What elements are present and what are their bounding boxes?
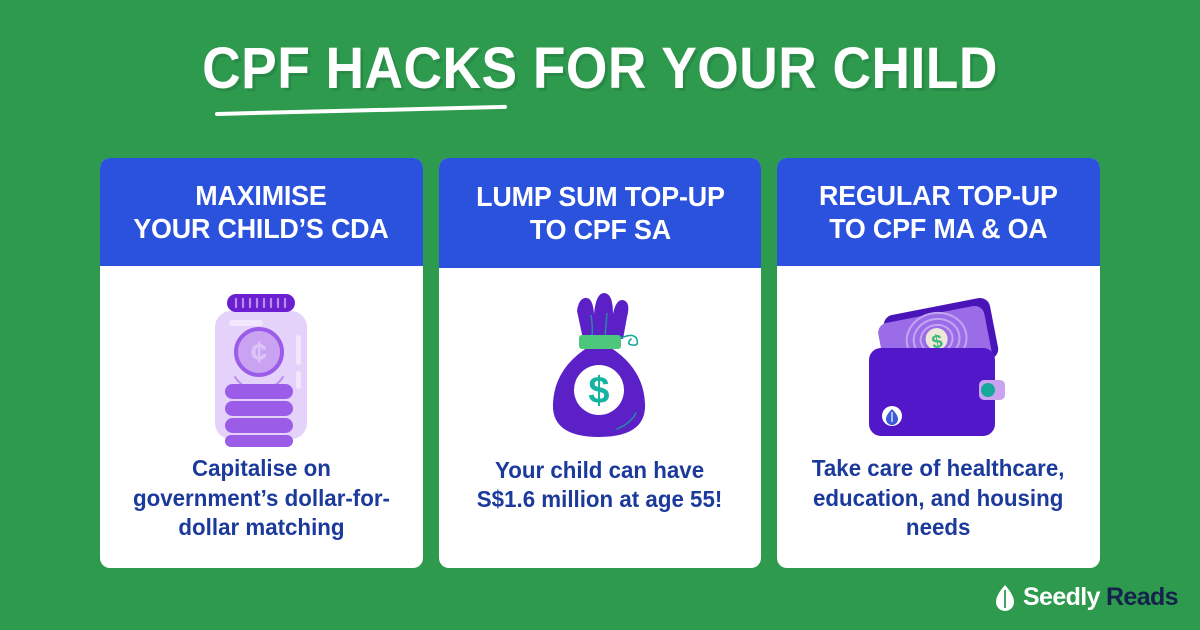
card-body-text-1: Capitalise on government’s dollar-for- d… [133, 454, 390, 542]
card-header-2: LUMP SUM TOP-UP TO CPF SA [439, 158, 762, 268]
card-maximise-cda[interactable]: MAXIMISE YOUR CHILD’S CDA [100, 158, 423, 568]
card-header-1: MAXIMISE YOUR CHILD’S CDA [100, 158, 423, 266]
svg-text:¢: ¢ [251, 336, 268, 369]
card-body-1: ¢ Capitalise on government’s dollar-for-… [100, 266, 423, 568]
cards-container: MAXIMISE YOUR CHILD’S CDA [100, 158, 1100, 568]
icon-wrap-2: $ [535, 286, 665, 456]
card-header-text-3: REGULAR TOP-UP TO CPF MA & OA [819, 179, 1058, 245]
seedly-leaf-icon [993, 584, 1017, 612]
card-body-text-2: Your child can have S$1.6 million at age… [477, 456, 723, 514]
title-underline-decoration [215, 105, 507, 116]
seedly-reads-logo[interactable]: Seedly Reads [993, 583, 1178, 612]
icon-wrap-1: ¢ [201, 284, 321, 454]
svg-text:$: $ [588, 370, 609, 412]
title-block: CPF HACKS FOR YOUR CHILD [0, 40, 1200, 98]
card-header-3: REGULAR TOP-UP TO CPF MA & OA [777, 158, 1100, 266]
card-regular-topup[interactable]: REGULAR TOP-UP TO CPF MA & OA $ [777, 158, 1100, 568]
card-body-2: $ Your child can have S$1.6 million at a… [439, 268, 762, 568]
logo-word-reads: Reads [1106, 583, 1178, 612]
card-body-text-3: Take care of healthcare, education, and … [812, 454, 1065, 542]
card-header-text-2: LUMP SUM TOP-UP TO CPF SA [476, 180, 725, 246]
card-lump-sum-topup[interactable]: LUMP SUM TOP-UP TO CPF SA [439, 158, 762, 568]
card-body-3: $ Take care of healthcare, education, an… [777, 266, 1100, 568]
page-title: CPF HACKS FOR YOUR CHILD [48, 40, 1152, 98]
icon-wrap-3: $ [859, 284, 1019, 454]
logo-word-seedly: Seedly [1023, 583, 1100, 612]
wallet-icon: $ [859, 294, 1019, 444]
coin-jar-icon: ¢ [201, 289, 321, 449]
money-bag-icon: $ [535, 293, 665, 448]
card-header-text-1: MAXIMISE YOUR CHILD’S CDA [134, 179, 389, 245]
